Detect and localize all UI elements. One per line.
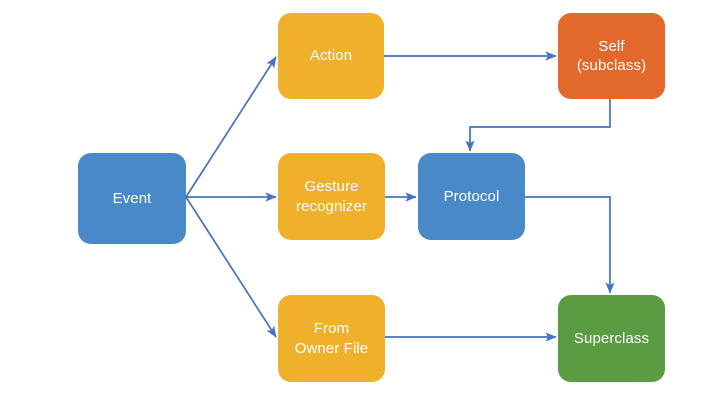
- edge-event-to-from-owner-file: [186, 197, 276, 337]
- node-protocol-label: Protocol: [444, 187, 500, 206]
- node-self-subclass[interactable]: Self (subclass): [558, 13, 665, 99]
- edge-protocol-to-superclass: [525, 197, 610, 293]
- edge-self-to-protocol: [470, 99, 610, 151]
- node-event[interactable]: Event: [78, 153, 186, 244]
- node-self-subclass-label: Self (subclass): [577, 37, 646, 75]
- node-from-owner-file[interactable]: From Owner File: [278, 295, 385, 382]
- node-superclass-label: Superclass: [574, 329, 649, 348]
- node-gesture-recognizer[interactable]: Gesture recognizer: [278, 153, 385, 240]
- node-superclass[interactable]: Superclass: [558, 295, 665, 382]
- node-from-owner-file-label: From Owner File: [295, 319, 369, 357]
- node-action-label: Action: [310, 46, 352, 65]
- node-event-label: Event: [113, 189, 152, 208]
- edge-event-to-action: [186, 57, 276, 197]
- node-gesture-recognizer-label: Gesture recognizer: [296, 177, 367, 215]
- node-action[interactable]: Action: [278, 13, 384, 99]
- node-protocol[interactable]: Protocol: [418, 153, 525, 240]
- diagram-canvas: Event Action Self (subclass) Gesture rec…: [0, 0, 728, 400]
